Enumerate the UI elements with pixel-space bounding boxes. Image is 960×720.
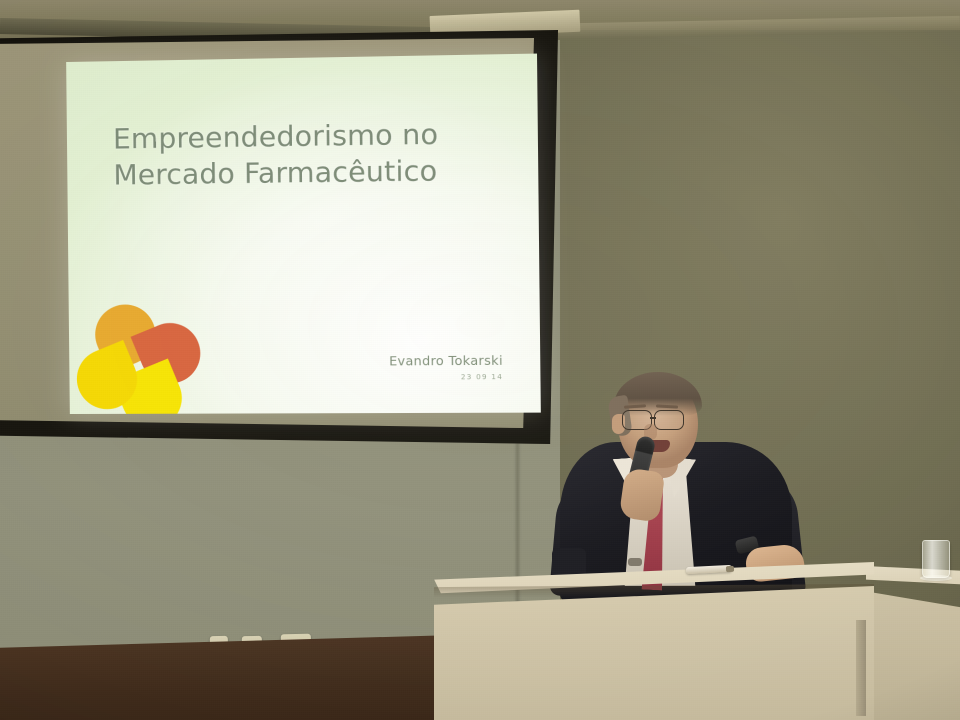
water-glass — [922, 540, 950, 578]
table-leg — [856, 620, 866, 716]
speaker-table — [432, 562, 874, 720]
table-front-panel — [434, 586, 874, 720]
slide-title: Empreendedorismo no Mercado Farmacêutico — [113, 115, 522, 193]
projected-slide: Empreendedorismo no Mercado Farmacêutico… — [66, 54, 541, 414]
slide-title-line-1: Empreendedorismo no — [113, 115, 522, 157]
presentation-photo-scene: Empreendedorismo no Mercado Farmacêutico… — [0, 0, 960, 720]
pen-tip — [726, 566, 734, 572]
slide-date: 23 09 14 — [461, 373, 503, 381]
eyeglasses-bridge — [650, 417, 656, 419]
slide-title-line-2: Mercado Farmacêutico — [113, 152, 522, 194]
side-table — [866, 560, 960, 720]
small-object-on-table — [628, 558, 642, 566]
pinwheel-logo-icon — [66, 278, 235, 414]
side-table-front-panel — [866, 586, 960, 720]
eyeglasses-lens-right — [654, 410, 684, 430]
slide-author-name: Evandro Tokarski — [389, 353, 503, 369]
